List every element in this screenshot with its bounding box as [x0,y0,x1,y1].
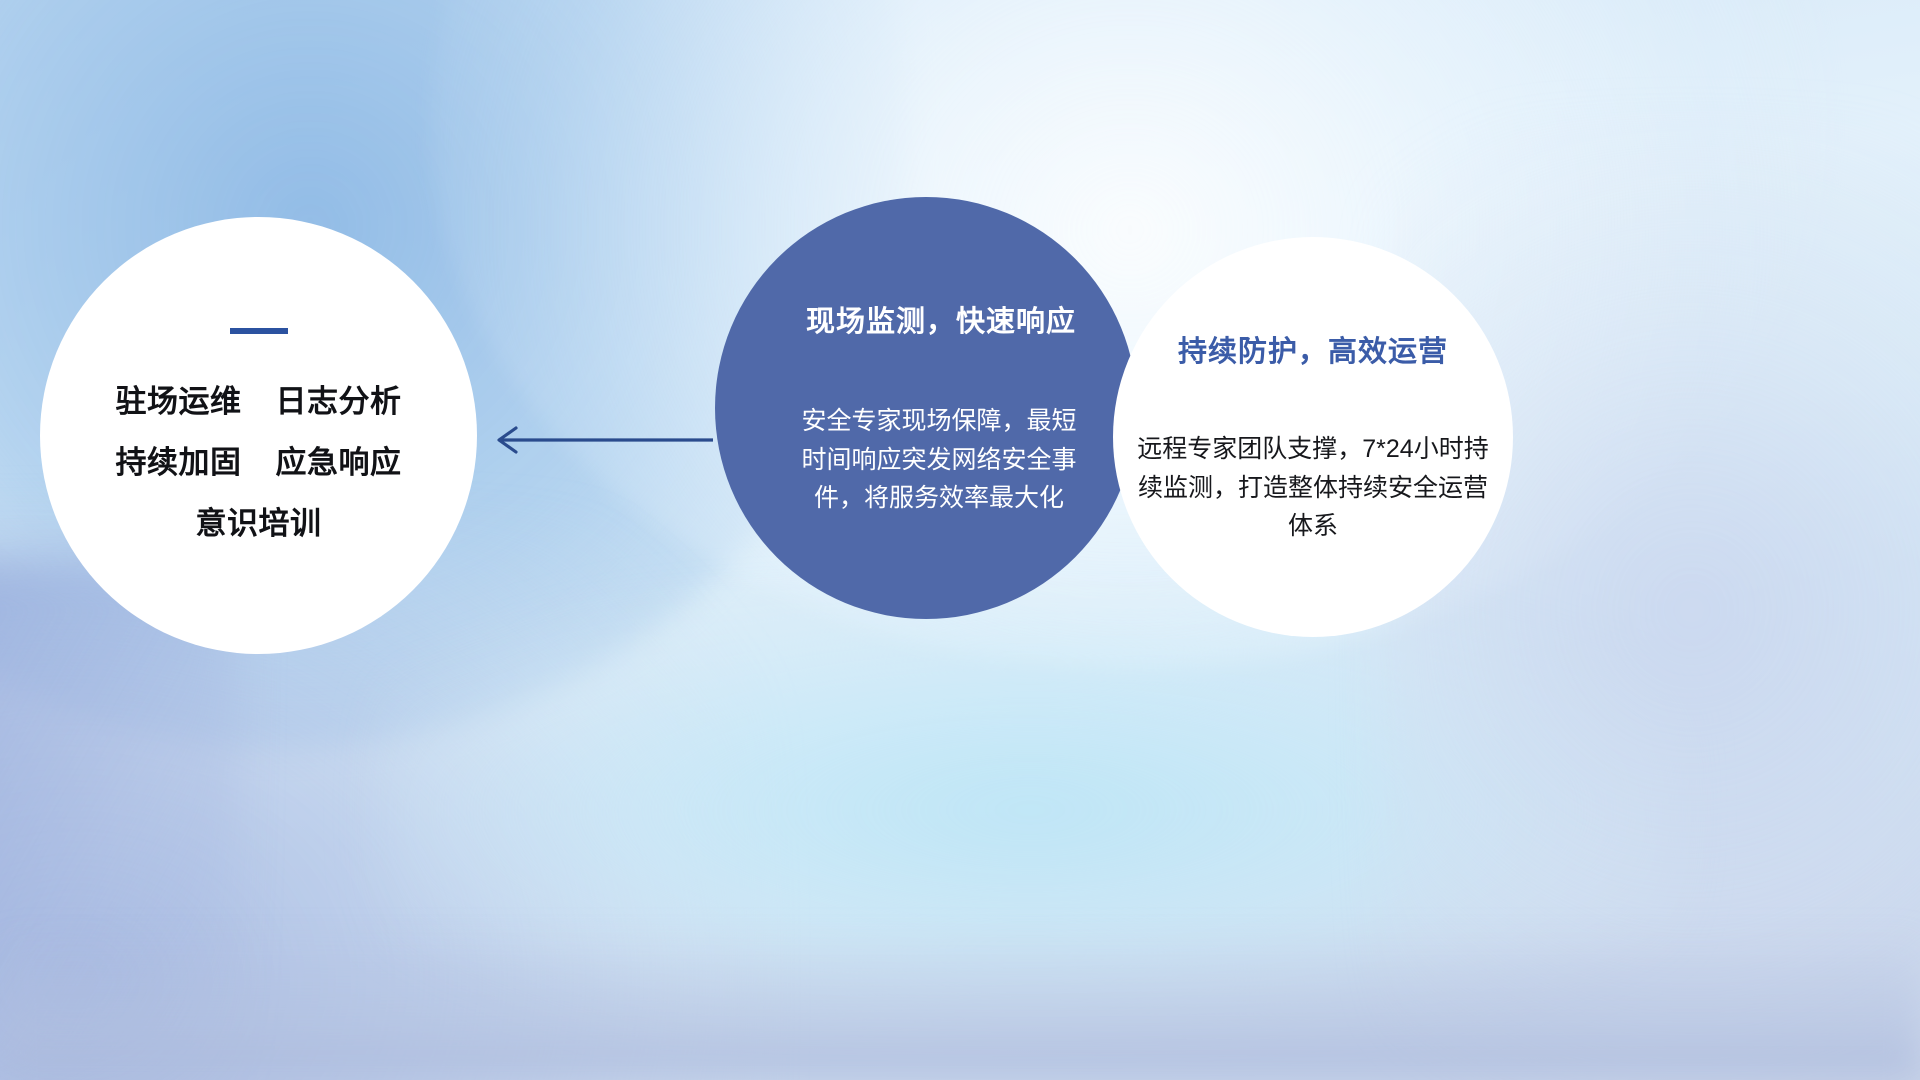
divider-dash [230,328,288,334]
node-body: 安全专家现场保障，最短时间响应突发网络安全事件，将服务效率最大化 [794,402,1084,518]
capability-tag-rows: 驻场运维 日志分析 持续加固 应急响应 意识培训 [116,376,402,543]
three-circle-flow-diagram: 驻场运维 日志分析 持续加固 应急响应 意识培训 现场监测，快速响应 安全专家现… [0,0,1920,1080]
capability-tag-row: 持续加固 应急响应 [116,437,402,482]
arrow-left-icon [485,418,715,462]
node-capability-tags[interactable]: 驻场运维 日志分析 持续加固 应急响应 意识培训 [40,217,477,654]
capability-tag: 持续加固 [116,437,242,482]
capability-tag: 意识培训 [196,498,322,543]
capability-tag: 驻场运维 [116,376,242,421]
node-title: 持续防护，高效运营 [1178,328,1448,370]
capability-tag-row: 意识培训 [116,498,402,543]
node-continuous-protection[interactable]: 持续防护，高效运营 远程专家团队支撑，7*24小时持续监测，打造整体持续安全运营… [1113,237,1513,637]
capability-tag: 日志分析 [276,376,402,421]
node-body: 远程专家团队支撑，7*24小时持续监测，打造整体持续安全运营体系 [1137,430,1489,546]
node-onsite-monitoring[interactable]: 现场监测，快速响应 安全专家现场保障，最短时间响应突发网络安全事件，将服务效率最… [715,197,1137,619]
capability-tag-row: 驻场运维 日志分析 [116,376,402,421]
capability-tag: 应急响应 [276,437,402,482]
node-title: 现场监测，快速响应 [806,298,1076,340]
